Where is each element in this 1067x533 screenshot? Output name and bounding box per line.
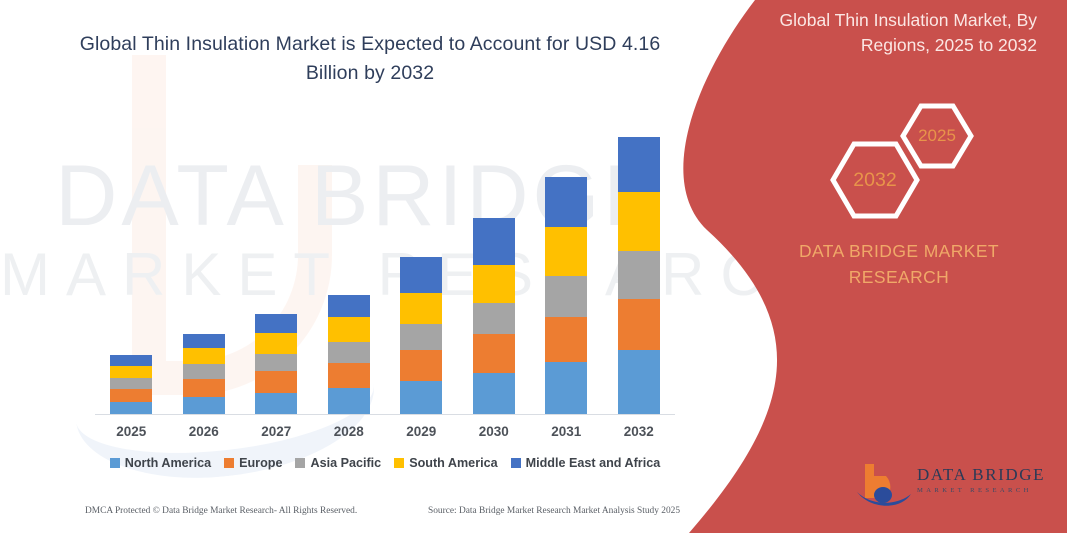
bar-segment-south-america[interactable] bbox=[110, 366, 152, 378]
bar-segment-asia-pacific[interactable] bbox=[400, 324, 442, 350]
panel-title: Global Thin Insulation Market, By Region… bbox=[737, 8, 1037, 59]
x-axis-label-2028: 2028 bbox=[319, 424, 379, 439]
bar-2029[interactable] bbox=[400, 257, 442, 414]
legend-label: South America bbox=[409, 456, 497, 470]
company-logo: DATA BRIDGE MARKET RESEARCH bbox=[855, 462, 1055, 508]
x-axis-label-2025: 2025 bbox=[101, 424, 161, 439]
legend-item-south-america[interactable]: South America bbox=[394, 456, 497, 470]
bar-segment-europe[interactable] bbox=[328, 363, 370, 388]
hexagon-badge-2025: 2025 bbox=[900, 103, 974, 169]
data-bridge-logo-icon bbox=[855, 462, 915, 508]
x-axis-label-2027: 2027 bbox=[246, 424, 306, 439]
x-axis-line bbox=[95, 414, 675, 415]
x-axis-label-2031: 2031 bbox=[536, 424, 596, 439]
bar-segment-south-america[interactable] bbox=[400, 293, 442, 324]
bar-segment-south-america[interactable] bbox=[545, 227, 587, 276]
logo-text: DATA BRIDGE MARKET RESEARCH bbox=[917, 466, 1045, 495]
bar-segment-south-america[interactable] bbox=[328, 317, 370, 342]
bar-segment-europe[interactable] bbox=[110, 389, 152, 402]
bar-2030[interactable] bbox=[473, 218, 515, 414]
chart-legend: North AmericaEuropeAsia PacificSouth Ame… bbox=[95, 456, 675, 470]
legend-swatch-icon bbox=[224, 458, 234, 468]
legend-swatch-icon bbox=[394, 458, 404, 468]
bar-segment-asia-pacific[interactable] bbox=[110, 378, 152, 389]
legend-item-middle-east-and-africa[interactable]: Middle East and Africa bbox=[511, 456, 661, 470]
page-title: Global Thin Insulation Market is Expecte… bbox=[60, 30, 680, 89]
bar-segment-south-america[interactable] bbox=[183, 348, 225, 364]
bar-segment-europe[interactable] bbox=[183, 379, 225, 397]
bar-segment-middle-east-and-africa[interactable] bbox=[545, 177, 587, 227]
bar-segment-north-america[interactable] bbox=[473, 373, 515, 414]
bar-2027[interactable] bbox=[255, 314, 297, 414]
bar-segment-asia-pacific[interactable] bbox=[328, 342, 370, 363]
bar-segment-middle-east-and-africa[interactable] bbox=[183, 334, 225, 348]
panel-brand-name: DATA BRIDGE MARKET RESEARCH bbox=[759, 238, 1039, 291]
bar-segment-middle-east-and-africa[interactable] bbox=[400, 257, 442, 293]
hexagon-badge-2032-label: 2032 bbox=[853, 169, 896, 192]
bar-2026[interactable] bbox=[183, 334, 225, 414]
bar-segment-north-america[interactable] bbox=[255, 393, 297, 414]
bar-segment-asia-pacific[interactable] bbox=[473, 303, 515, 334]
bar-segment-asia-pacific[interactable] bbox=[255, 354, 297, 371]
legend-label: North America bbox=[125, 456, 211, 470]
bar-segment-south-america[interactable] bbox=[473, 265, 515, 303]
bar-segment-middle-east-and-africa[interactable] bbox=[618, 137, 660, 192]
hexagon-badge-2025-label: 2025 bbox=[918, 126, 956, 146]
logo-line-1: DATA BRIDGE bbox=[917, 466, 1045, 483]
footer-source: Source: Data Bridge Market Research Mark… bbox=[428, 506, 680, 516]
bar-segment-europe[interactable] bbox=[400, 350, 442, 381]
bar-segment-north-america[interactable] bbox=[110, 402, 152, 414]
bar-segment-north-america[interactable] bbox=[183, 397, 225, 414]
legend-label: Asia Pacific bbox=[310, 456, 381, 470]
bar-segment-europe[interactable] bbox=[618, 299, 660, 350]
x-axis-label-2032: 2032 bbox=[609, 424, 669, 439]
bar-segment-north-america[interactable] bbox=[618, 350, 660, 414]
logo-line-2: MARKET RESEARCH bbox=[917, 488, 1045, 495]
bar-segment-south-america[interactable] bbox=[255, 333, 297, 354]
bar-segment-asia-pacific[interactable] bbox=[618, 251, 660, 299]
bar-segment-middle-east-and-africa[interactable] bbox=[328, 295, 370, 317]
x-axis-label-2026: 2026 bbox=[174, 424, 234, 439]
bar-2032[interactable] bbox=[618, 137, 660, 414]
legend-label: Middle East and Africa bbox=[526, 456, 661, 470]
bar-segment-middle-east-and-africa[interactable] bbox=[110, 355, 152, 366]
bar-segment-europe[interactable] bbox=[255, 371, 297, 393]
x-axis-labels: 20252026202720282029203020312032 bbox=[95, 424, 675, 444]
bar-segment-europe[interactable] bbox=[545, 317, 587, 362]
stacked-bar-chart bbox=[95, 120, 675, 415]
legend-swatch-icon bbox=[110, 458, 120, 468]
bar-segment-europe[interactable] bbox=[473, 334, 515, 373]
bar-segment-middle-east-and-africa[interactable] bbox=[473, 218, 515, 265]
legend-item-north-america[interactable]: North America bbox=[110, 456, 211, 470]
legend-label: Europe bbox=[239, 456, 282, 470]
legend-item-asia-pacific[interactable]: Asia Pacific bbox=[295, 456, 381, 470]
legend-swatch-icon bbox=[295, 458, 305, 468]
x-axis-label-2029: 2029 bbox=[391, 424, 451, 439]
bar-segment-north-america[interactable] bbox=[545, 362, 587, 414]
bar-2028[interactable] bbox=[328, 295, 370, 414]
bar-segment-middle-east-and-africa[interactable] bbox=[255, 314, 297, 333]
panel-brand-line-1: DATA BRIDGE MARKET bbox=[759, 238, 1039, 264]
legend-item-europe[interactable]: Europe bbox=[224, 456, 282, 470]
bar-segment-south-america[interactable] bbox=[618, 192, 660, 251]
x-axis-label-2030: 2030 bbox=[464, 424, 524, 439]
bar-segment-north-america[interactable] bbox=[328, 388, 370, 414]
bar-segment-north-america[interactable] bbox=[400, 381, 442, 414]
bar-2025[interactable] bbox=[110, 355, 152, 414]
infographic-canvas: DATA BRIDGE MARKET RESEARCH Global Thin … bbox=[0, 0, 1067, 533]
footer-copyright: DMCA Protected © Data Bridge Market Rese… bbox=[85, 506, 357, 516]
footer: DMCA Protected © Data Bridge Market Rese… bbox=[0, 506, 700, 528]
bar-segment-asia-pacific[interactable] bbox=[183, 364, 225, 379]
panel-brand-line-2: RESEARCH bbox=[759, 264, 1039, 290]
bar-segment-asia-pacific[interactable] bbox=[545, 276, 587, 317]
legend-swatch-icon bbox=[511, 458, 521, 468]
bar-2031[interactable] bbox=[545, 177, 587, 414]
